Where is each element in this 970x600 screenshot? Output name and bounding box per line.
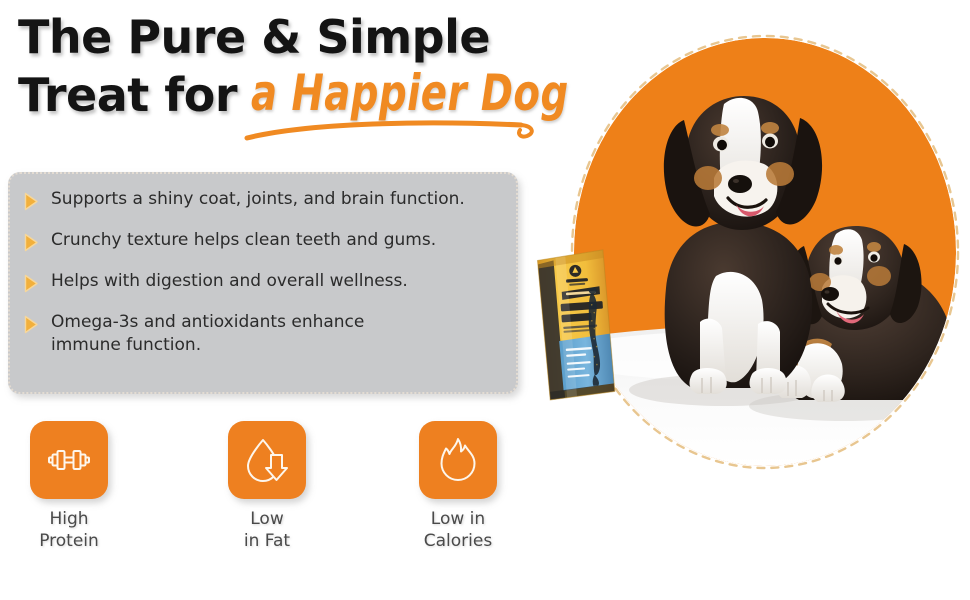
headline-line-2-text: Treat for	[18, 66, 237, 124]
benefit-text: Omega-3s and antioxidants enhance immune…	[51, 311, 381, 357]
benefit-item: Supports a shiny coat, joints, and brain…	[24, 188, 498, 211]
benefit-item: Helps with digestion and overall wellnes…	[24, 270, 498, 293]
promo-banner: The Pure & Simple Treat for a Happier Do…	[0, 0, 970, 600]
feature-label: Low in Fat	[212, 508, 322, 552]
benefits-panel: Supports a shiny coat, joints, and brain…	[8, 172, 518, 394]
feature-low-in-fat: Low in Fat	[212, 421, 322, 552]
benefit-item: Omega-3s and antioxidants enhance immune…	[24, 311, 498, 357]
feature-label-line-2: Calories	[403, 530, 513, 552]
benefit-item: Crunchy texture helps clean teeth and gu…	[24, 229, 498, 252]
headline-line-1: The Pure & Simple	[18, 8, 578, 66]
script-phrase: a Happier Dog	[251, 65, 569, 122]
feature-badge-tile	[228, 421, 306, 499]
headline-line-2: Treat for a Happier Dog	[18, 66, 578, 124]
dumbbell-icon	[42, 433, 96, 487]
feature-label-line-1: Low in	[403, 508, 513, 530]
dog-photo	[574, 38, 956, 466]
flame-icon	[431, 433, 485, 487]
triangle-bullet-icon	[24, 315, 39, 334]
feature-label-line-2: Protein	[14, 530, 124, 552]
feature-label: High Protein	[14, 508, 124, 552]
feature-label-line-1: High	[14, 508, 124, 530]
triangle-bullet-icon	[24, 233, 39, 252]
feature-low-in-calories: Low in Calories	[403, 421, 513, 552]
benefit-text: Supports a shiny coat, joints, and brain…	[51, 188, 465, 211]
feature-high-protein: High Protein	[14, 421, 124, 552]
triangle-bullet-icon	[24, 274, 39, 293]
feature-label: Low in Calories	[403, 508, 513, 552]
feature-badge-tile	[30, 421, 108, 499]
headline-block: The Pure & Simple Treat for a Happier Do…	[18, 8, 578, 124]
feature-label-line-1: Low	[212, 508, 322, 530]
triangle-bullet-icon	[24, 192, 39, 211]
dog-photo-area	[560, 20, 970, 490]
benefit-text: Crunchy texture helps clean teeth and gu…	[51, 229, 436, 252]
feature-label-line-2: in Fat	[212, 530, 322, 552]
feature-badge-tile	[419, 421, 497, 499]
water-drop-down-arrow-icon	[240, 433, 294, 487]
benefit-text: Helps with digestion and overall wellnes…	[51, 270, 408, 293]
product-package	[531, 245, 619, 402]
